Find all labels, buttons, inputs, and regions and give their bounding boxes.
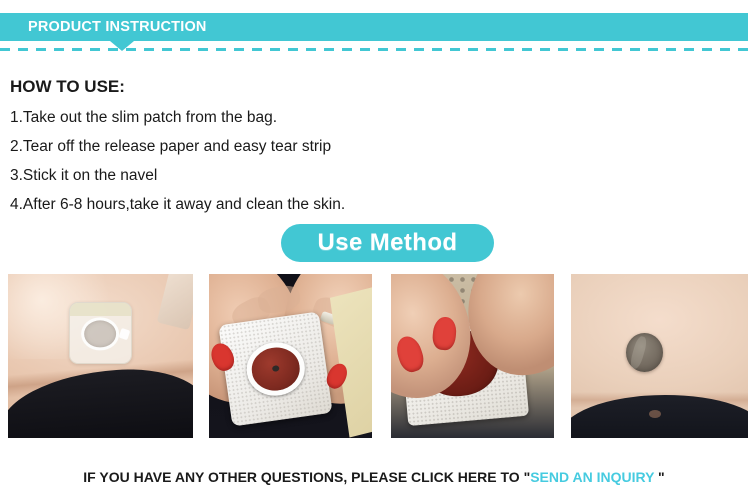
slim-patch-held xyxy=(219,312,333,427)
photo-strip xyxy=(0,274,748,438)
photo-step-4 xyxy=(571,274,748,438)
send-an-inquiry-link[interactable]: SEND AN INQUIRY xyxy=(530,469,654,485)
photo-step-3 xyxy=(391,274,554,438)
how-to-use-section: HOW TO USE: 1.Take out the slim patch fr… xyxy=(10,76,630,223)
instruction-step-3: 3.Stick it on the navel xyxy=(10,165,630,187)
instruction-step-4: 4.After 6-8 hours,take it away and clean… xyxy=(10,194,630,216)
triangle-pointer-icon xyxy=(110,41,134,51)
patch-sheen xyxy=(628,335,648,370)
instruction-step-2: 2.Tear off the release paper and easy te… xyxy=(10,136,630,158)
use-method-banner: Use Method xyxy=(281,224,494,262)
patch-ring xyxy=(82,318,120,351)
patch-tab xyxy=(119,328,130,340)
gel-center-dot xyxy=(272,366,280,373)
footer-inquiry-line: IF YOU HAVE ANY OTHER QUESTIONS, PLEASE … xyxy=(0,468,748,486)
photo-step-2 xyxy=(209,274,372,438)
footer-text-before: IF YOU HAVE ANY OTHER QUESTIONS, PLEASE … xyxy=(83,469,530,485)
patch-top-strip xyxy=(70,303,131,316)
how-to-use-heading: HOW TO USE: xyxy=(10,76,630,98)
slim-patch-applied xyxy=(69,302,132,364)
product-instruction-page: PRODUCT INSTRUCTION HOW TO USE: 1.Take o… xyxy=(0,0,748,504)
page-title: PRODUCT INSTRUCTION xyxy=(28,18,207,36)
footer-text-after: " xyxy=(654,469,665,485)
instruction-step-1: 1.Take out the slim patch from the bag. xyxy=(10,107,630,129)
use-method-label: Use Method xyxy=(317,229,457,257)
photo-step-1 xyxy=(8,274,193,438)
header: PRODUCT INSTRUCTION xyxy=(0,0,748,60)
